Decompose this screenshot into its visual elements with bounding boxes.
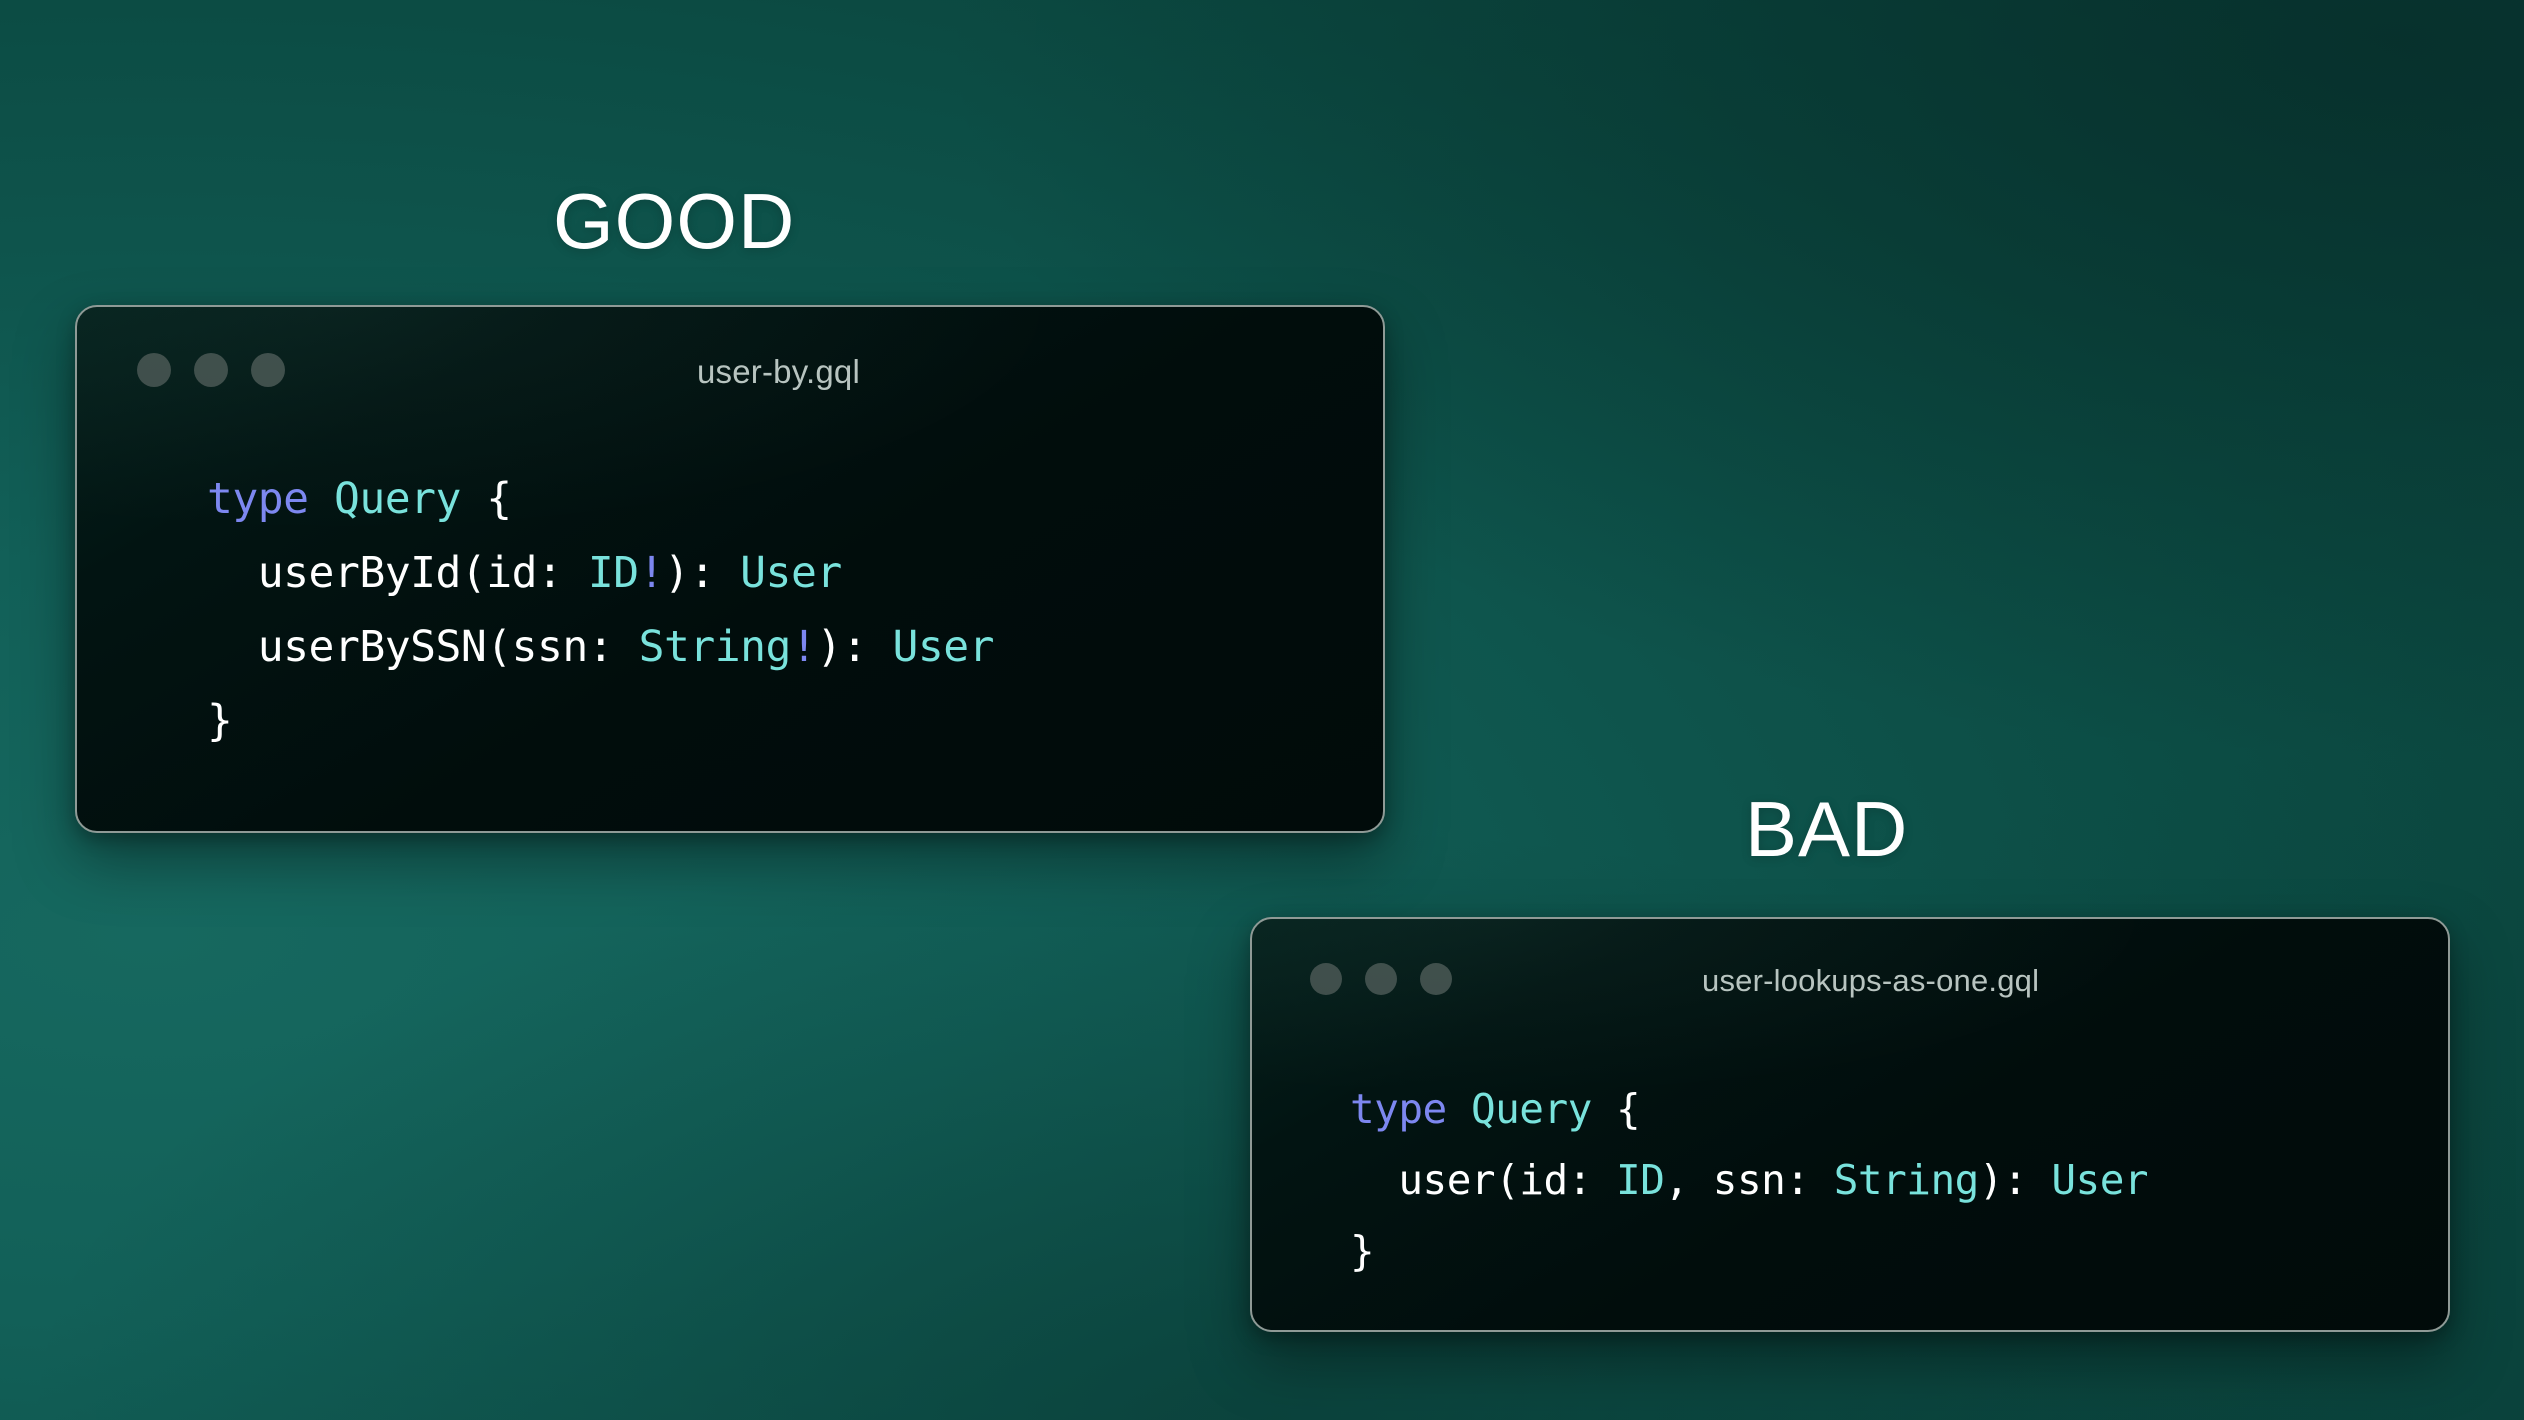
caption-good: GOOD: [553, 182, 795, 260]
close-dot-icon[interactable]: [137, 353, 171, 387]
maximize-dot-icon[interactable]: [251, 353, 285, 387]
code-token-type: Query: [1471, 1085, 1592, 1133]
code-line: type Query {: [207, 462, 994, 536]
code-token-plain: {: [461, 474, 512, 524]
code-line: userBySSN(ssn: String!): User: [207, 610, 994, 684]
code-token-plain: {: [1592, 1085, 1640, 1133]
window-titlebar: user-by.gql: [77, 307, 1383, 395]
code-token-keyword: type: [207, 474, 309, 524]
minimize-dot-icon[interactable]: [194, 353, 228, 387]
code-token-type: ID: [588, 548, 639, 598]
code-token-plain: ):: [1979, 1156, 2052, 1204]
code-token-plain: ):: [816, 622, 892, 672]
close-dot-icon[interactable]: [1310, 963, 1342, 995]
code-line: }: [207, 684, 994, 758]
code-line: }: [1350, 1216, 2148, 1287]
code-token-type: User: [740, 548, 842, 598]
code-window-good[interactable]: user-by.gql type Query { userById(id: ID…: [75, 305, 1385, 833]
window-title-bad: user-lookups-as-one.gql: [1702, 963, 2039, 999]
code-token-plain: [1447, 1085, 1471, 1133]
code-block-bad: type Query { user(id: ID, ssn: String): …: [1350, 1074, 2148, 1287]
code-token-type: User: [893, 622, 995, 672]
code-token-plain: user(id:: [1350, 1156, 1616, 1204]
code-token-plain: userById(id:: [207, 548, 588, 598]
code-token-type: String: [1834, 1156, 1979, 1204]
code-line: userById(id: ID!): User: [207, 536, 994, 610]
window-title-good: user-by.gql: [697, 353, 860, 391]
code-token-plain: , ssn:: [1664, 1156, 1833, 1204]
code-token-type: User: [2051, 1156, 2148, 1204]
code-token-bang: !: [791, 622, 816, 672]
code-token-type: ID: [1616, 1156, 1664, 1204]
code-line: user(id: ID, ssn: String): User: [1350, 1145, 2148, 1216]
code-token-type: String: [639, 622, 791, 672]
window-traffic-lights: [1310, 963, 1452, 995]
code-token-type: Query: [334, 474, 461, 524]
code-window-bad[interactable]: user-lookups-as-one.gql type Query { use…: [1250, 917, 2450, 1332]
maximize-dot-icon[interactable]: [1420, 963, 1452, 995]
code-token-plain: [309, 474, 334, 524]
code-token-plain: userBySSN(ssn:: [207, 622, 639, 672]
code-block-good: type Query { userById(id: ID!): User use…: [207, 462, 994, 758]
code-token-keyword: type: [1350, 1085, 1447, 1133]
code-token-plain: }: [1350, 1227, 1374, 1275]
window-titlebar: user-lookups-as-one.gql: [1252, 919, 2448, 1005]
caption-bad: BAD: [1745, 790, 1908, 868]
code-token-bang: !: [639, 548, 664, 598]
code-token-plain: }: [207, 696, 232, 746]
window-traffic-lights: [137, 353, 285, 387]
code-token-plain: ):: [664, 548, 740, 598]
minimize-dot-icon[interactable]: [1365, 963, 1397, 995]
code-line: type Query {: [1350, 1074, 2148, 1145]
